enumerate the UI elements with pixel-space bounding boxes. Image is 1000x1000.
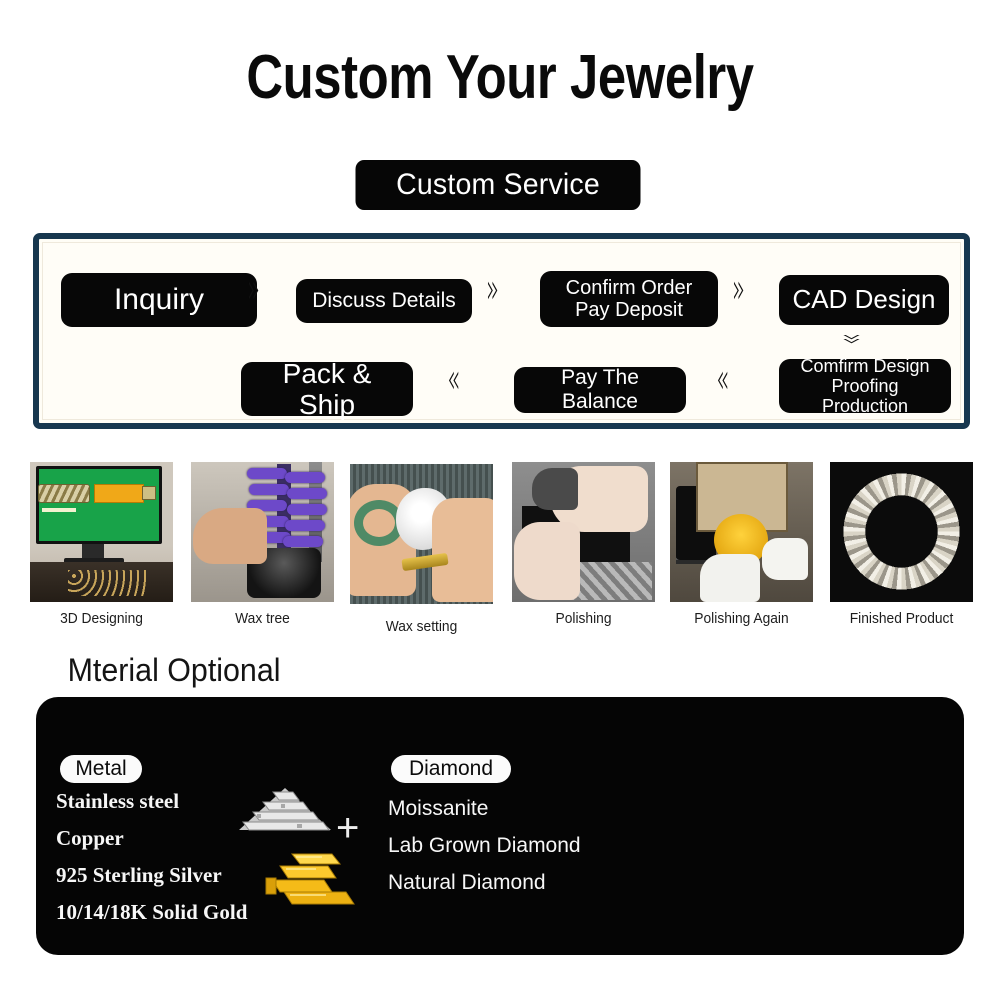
step-pay-balance[interactable]: Pay The Balance <box>514 367 686 413</box>
step-comfirm-design[interactable]: Comfirm Design Proofing Production <box>779 359 951 413</box>
polishing-photo <box>512 462 655 602</box>
step-confirm-order-line2: Pay Deposit <box>575 299 683 321</box>
list-item: Moissanite <box>388 797 581 821</box>
photo-caption: 3D Designing <box>36 610 168 627</box>
plus-icon: + <box>336 808 359 848</box>
list-item: 10/14/18K Solid Gold <box>56 900 247 925</box>
step-confirm-order-line1: Confirm Order <box>566 277 693 299</box>
step-pack-ship[interactable]: Pack & Ship <box>241 362 413 416</box>
chevron-right-icon-2: » <box>486 268 499 311</box>
chevron-left-icon-2: « <box>716 358 729 401</box>
photo-caption: Polishing <box>518 610 650 627</box>
process-photo-wax-setting[interactable]: Wax setting <box>350 464 493 635</box>
chevron-right-icon-3: » <box>732 268 745 311</box>
polishing-again-photo <box>670 462 813 602</box>
list-item: Stainless steel <box>56 789 247 814</box>
silver-bars-icon <box>237 786 333 832</box>
list-item: Lab Grown Diamond <box>388 834 581 858</box>
process-photo-polishing[interactable]: Polishing <box>512 462 655 627</box>
step-inquiry[interactable]: Inquiry <box>61 273 257 327</box>
custom-service-badge: Custom Service <box>356 160 641 210</box>
photo-caption: Finished Product <box>836 610 968 627</box>
wax-tree-photo <box>191 462 334 602</box>
gold-bars-icon <box>262 848 360 906</box>
material-panel: Metal Stainless steel Copper 925 Sterlin… <box>36 697 964 955</box>
photo-caption: Polishing Again <box>676 610 808 627</box>
step-comfirm-design-line2: Proofing Production <box>822 376 908 416</box>
chevron-left-icon-1: « <box>447 358 460 401</box>
material-optional-heading: Mterial Optional <box>68 652 281 689</box>
step-comfirm-design-line1: Comfirm Design <box>800 356 929 376</box>
finished-chain-photo <box>830 462 973 602</box>
photo-caption: Wax setting <box>356 618 488 635</box>
chevron-down-icon: » <box>833 333 872 344</box>
process-photo-polishing-again[interactable]: Polishing Again <box>670 462 813 627</box>
cad-monitor-photo <box>30 462 173 602</box>
custom-service-flow-frame: Inquiry Discuss Details Confirm Order Pa… <box>33 233 970 429</box>
list-item: Copper <box>56 826 247 851</box>
metal-tag-badge: Metal <box>60 755 142 783</box>
diamond-tag-badge: Diamond <box>391 755 511 783</box>
step-discuss-details[interactable]: Discuss Details <box>296 279 472 323</box>
diamond-options-list: Moissanite Lab Grown Diamond Natural Dia… <box>388 797 581 908</box>
wax-setting-photo <box>350 464 493 604</box>
page-title: Custom Your Jewelry <box>90 42 910 114</box>
photo-caption: Wax tree <box>197 610 329 627</box>
process-photo-strip: 3D Designing Wax tree <box>0 462 1000 637</box>
metal-options-list: Stainless steel Copper 925 Sterling Silv… <box>56 789 247 937</box>
step-confirm-order[interactable]: Confirm Order Pay Deposit <box>540 271 718 327</box>
list-item: 925 Sterling Silver <box>56 863 247 888</box>
process-photo-finished-product[interactable]: Finished Product <box>830 462 973 627</box>
process-photo-wax-tree[interactable]: Wax tree <box>191 462 334 627</box>
chevron-right-icon-1: » <box>247 268 260 311</box>
list-item: Natural Diamond <box>388 871 581 895</box>
process-photo-3d-designing[interactable]: 3D Designing <box>30 462 173 627</box>
step-cad-design[interactable]: CAD Design <box>779 275 949 325</box>
